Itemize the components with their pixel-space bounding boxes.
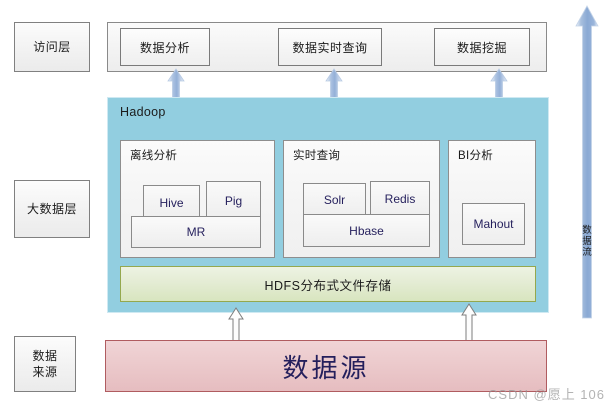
tech-box-solr-label: Solr	[324, 193, 345, 207]
data-source-label: 数据源	[282, 348, 369, 385]
panel-offline-analysis: 离线分析 Hive Pig MR	[120, 140, 275, 258]
layer-label-datasource: 数据来源	[14, 336, 76, 392]
layer-label-datasource-text: 数据来源	[28, 348, 62, 380]
tech-box-mr[interactable]: MR	[131, 216, 261, 248]
access-box-data-realtime-query[interactable]: 数据实时查询	[278, 28, 382, 66]
layer-label-bigdata: 大数据层	[14, 180, 90, 238]
data-flow-arrow	[573, 4, 601, 320]
watermark: CSDN @愿上 106	[488, 384, 605, 403]
access-box-data-mining[interactable]: 数据挖掘	[434, 28, 530, 66]
tech-box-redis[interactable]: Redis	[370, 181, 430, 217]
tech-box-mahout[interactable]: Mahout	[462, 203, 525, 245]
tech-box-hbase[interactable]: Hbase	[303, 214, 430, 247]
tech-box-pig[interactable]: Pig	[206, 181, 261, 221]
data-flow-label-text: 数据流	[582, 225, 592, 258]
hadoop-container: Hadoop 离线分析 Hive Pig MR 实时查询 Solr Redis	[107, 97, 549, 313]
tech-box-solr[interactable]: Solr	[303, 183, 366, 217]
panel-bi-analysis: BI分析 Mahout	[448, 140, 536, 258]
tech-box-redis-label: Redis	[385, 192, 416, 206]
panel-realtime-query: 实时查询 Solr Redis Hbase	[283, 140, 440, 258]
tech-box-mahout-label: Mahout	[473, 217, 513, 231]
data-flow-label: 数据流	[580, 225, 594, 258]
tech-box-pig-label: Pig	[225, 194, 242, 208]
tech-box-mr-label: MR	[187, 225, 206, 239]
access-box-data-analysis-label: 数据分析	[140, 39, 190, 56]
layer-label-bigdata-text: 大数据层	[27, 202, 77, 217]
access-box-data-realtime-query-label: 数据实时查询	[292, 39, 367, 56]
hdfs-storage-label: HDFS分布式文件存储	[264, 275, 391, 294]
tech-box-hive-label: Hive	[159, 196, 183, 210]
layer-label-access: 访问层	[14, 22, 90, 72]
data-source-bar: 数据源	[105, 340, 547, 392]
hadoop-title: Hadoop	[120, 105, 166, 119]
panel-offline-analysis-title: 离线分析	[130, 147, 177, 163]
panel-bi-analysis-title: BI分析	[458, 147, 493, 163]
architecture-diagram: 访问层 大数据层 数据来源 数据分析 数据实时查询 数据挖掘	[0, 0, 611, 407]
panel-realtime-query-title: 实时查询	[293, 147, 340, 163]
access-box-data-analysis[interactable]: 数据分析	[120, 28, 210, 66]
tech-box-hbase-label: Hbase	[349, 224, 384, 238]
layer-label-access-text: 访问层	[33, 40, 71, 55]
hdfs-storage-bar: HDFS分布式文件存储	[120, 266, 536, 302]
access-box-data-mining-label: 数据挖掘	[457, 39, 507, 56]
